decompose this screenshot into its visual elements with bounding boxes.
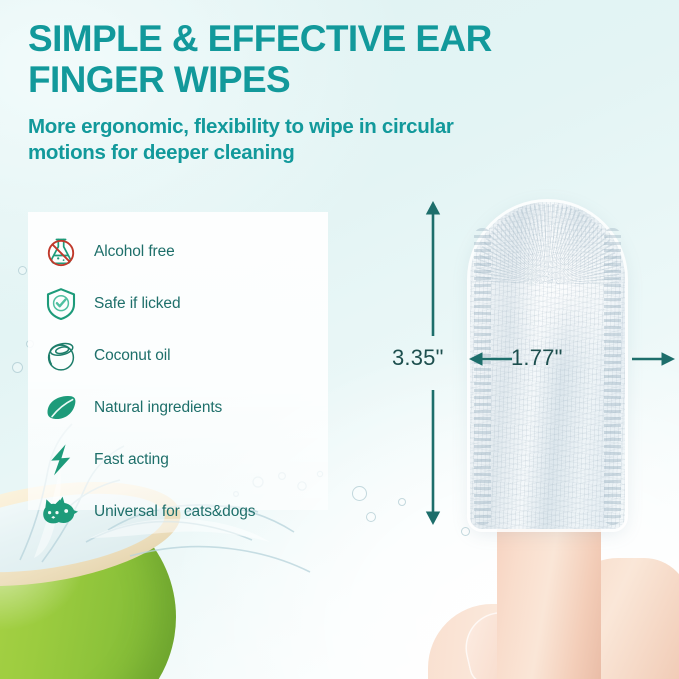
product-infographic: SIMPLE & EFFECTIVE EAR FINGER WIPES More… bbox=[0, 0, 679, 679]
bubble-decor bbox=[398, 498, 406, 506]
feature-label: Natural ingredients bbox=[94, 399, 222, 417]
wipe-edge-left bbox=[474, 228, 491, 525]
coconut-icon bbox=[40, 335, 82, 377]
dimension-height-arrow-top bbox=[421, 198, 445, 338]
headline-block: SIMPLE & EFFECTIVE EAR FINGER WIPES More… bbox=[28, 18, 628, 166]
page-title-line-2: FINGER WIPES bbox=[28, 59, 628, 100]
feature-label: Universal for cats&dogs bbox=[94, 503, 255, 521]
feature-item-safe-if-licked: Safe if licked bbox=[40, 278, 340, 330]
feature-item-alcohol-free: Alcohol free bbox=[40, 226, 340, 278]
bubble-decor bbox=[352, 486, 367, 501]
bubble-decor bbox=[461, 527, 470, 536]
no-alcohol-flask-icon bbox=[40, 231, 82, 273]
bubble-decor bbox=[18, 266, 27, 275]
cat-dog-icon bbox=[40, 491, 82, 533]
lightning-bolt-icon bbox=[40, 439, 82, 481]
page-subtitle: More ergonomic, flexibility to wipe in c… bbox=[28, 114, 588, 166]
feature-item-coconut-oil: Coconut oil bbox=[40, 330, 340, 382]
bubble-decor bbox=[366, 512, 376, 522]
dimension-height-arrow-bottom bbox=[421, 388, 445, 528]
feature-item-fast-acting: Fast acting bbox=[40, 434, 340, 486]
page-subtitle-line-1: More ergonomic, flexibility to wipe in c… bbox=[28, 114, 588, 140]
feature-label: Alcohol free bbox=[94, 243, 175, 261]
feature-item-universal-cats-dogs: Universal for cats&dogs bbox=[40, 486, 340, 538]
page-title-line-1: SIMPLE & EFFECTIVE EAR bbox=[28, 18, 628, 59]
feature-item-natural-ingredients: Natural ingredients bbox=[40, 382, 340, 434]
feature-label: Coconut oil bbox=[94, 347, 170, 365]
wipe-crown-stitching bbox=[476, 204, 619, 284]
wipe-edge-right bbox=[604, 228, 621, 525]
shield-check-icon bbox=[40, 283, 82, 325]
page-subtitle-line-2: motions for deeper cleaning bbox=[28, 140, 588, 166]
feature-list: Alcohol free Safe if licked bbox=[40, 226, 340, 538]
feature-label: Safe if licked bbox=[94, 295, 180, 313]
dimension-height-label: 3.35" bbox=[392, 345, 444, 371]
bubble-decor bbox=[12, 362, 23, 373]
leaf-icon bbox=[40, 387, 82, 429]
dimension-width-arrow bbox=[466, 348, 678, 370]
feature-label: Fast acting bbox=[94, 451, 169, 469]
